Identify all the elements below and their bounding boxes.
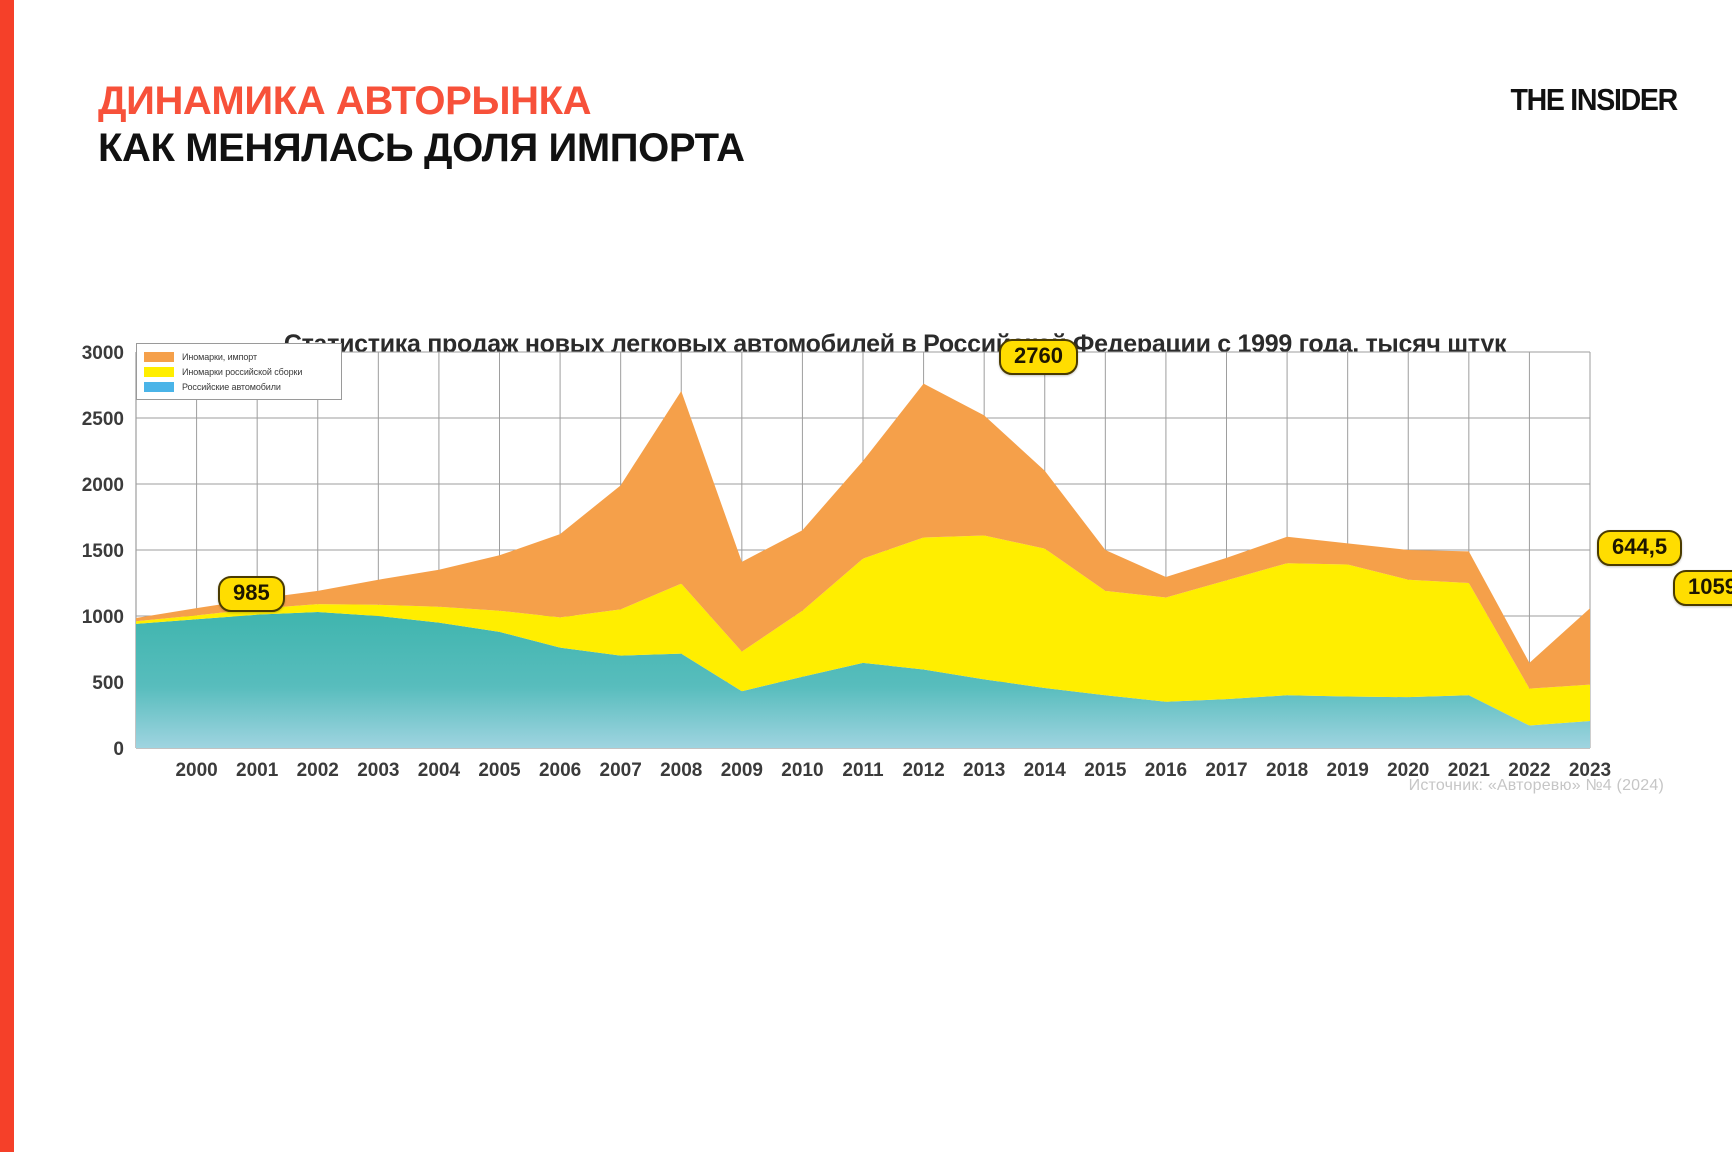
- svg-text:2017: 2017: [1205, 760, 1247, 781]
- callout-badge-644-5: 644,5: [1597, 530, 1682, 566]
- svg-text:2003: 2003: [357, 760, 399, 781]
- headline-block: ДИНАМИКА АВТОРЫНКА КАК МЕНЯЛАСЬ ДОЛЯ ИМП…: [98, 78, 745, 172]
- chart-container: Статистика продаж новых легковых автомоб…: [70, 330, 1670, 800]
- legend-swatch-russian: [144, 382, 174, 392]
- svg-text:2009: 2009: [721, 760, 763, 781]
- stacked-area-chart: 0500100015002000250030002000200120022003…: [70, 330, 1670, 800]
- svg-text:0: 0: [113, 739, 124, 760]
- svg-text:2010: 2010: [781, 760, 823, 781]
- svg-text:3000: 3000: [82, 343, 124, 364]
- svg-text:2002: 2002: [297, 760, 339, 781]
- svg-text:2000: 2000: [82, 475, 124, 496]
- svg-text:2015: 2015: [1084, 760, 1127, 781]
- svg-text:2014: 2014: [1024, 760, 1067, 781]
- svg-text:2000: 2000: [175, 760, 217, 781]
- svg-text:500: 500: [92, 673, 124, 694]
- svg-text:2001: 2001: [236, 760, 279, 781]
- svg-text:2013: 2013: [963, 760, 1005, 781]
- legend-label-local-assembly: Иномарки российской сборки: [182, 367, 302, 377]
- source-attribution: Источник: «Авторевю» №4 (2024): [1409, 777, 1664, 795]
- legend-item-russian: Российские автомобили: [144, 379, 332, 394]
- chart-legend: Иномарки, импорт Иномарки российской сбо…: [136, 343, 342, 400]
- headline-secondary: КАК МЕНЯЛАСЬ ДОЛЯ ИМПОРТА: [98, 125, 745, 172]
- legend-label-russian: Российские автомобили: [182, 382, 281, 392]
- legend-swatch-import: [144, 352, 174, 362]
- left-accent-bar: [0, 0, 14, 1152]
- svg-text:2012: 2012: [902, 760, 944, 781]
- callout-badge-1059: 1059: [1673, 570, 1732, 606]
- svg-text:1500: 1500: [82, 541, 124, 562]
- legend-swatch-local-assembly: [144, 367, 174, 377]
- legend-item-local-assembly: Иномарки российской сборки: [144, 364, 332, 379]
- svg-text:2008: 2008: [660, 760, 702, 781]
- legend-item-import: Иномарки, импорт: [144, 349, 332, 364]
- callout-badge-985: 985: [218, 576, 285, 612]
- brand-logo: THE INSIDER: [1511, 82, 1677, 118]
- callout-badge-2760: 2760: [999, 339, 1078, 375]
- svg-text:2019: 2019: [1327, 760, 1369, 781]
- svg-text:2006: 2006: [539, 760, 581, 781]
- svg-text:1000: 1000: [82, 607, 124, 628]
- svg-text:2018: 2018: [1266, 760, 1308, 781]
- slide-canvas: ДИНАМИКА АВТОРЫНКА КАК МЕНЯЛАСЬ ДОЛЯ ИМП…: [0, 0, 1732, 1152]
- svg-text:2011: 2011: [842, 760, 884, 781]
- svg-text:2500: 2500: [82, 409, 124, 430]
- headline-primary: ДИНАМИКА АВТОРЫНКА: [98, 78, 745, 125]
- legend-label-import: Иномарки, импорт: [182, 352, 257, 362]
- svg-text:2007: 2007: [600, 760, 642, 781]
- svg-text:2004: 2004: [418, 760, 461, 781]
- svg-text:2016: 2016: [1145, 760, 1187, 781]
- svg-text:2005: 2005: [478, 760, 521, 781]
